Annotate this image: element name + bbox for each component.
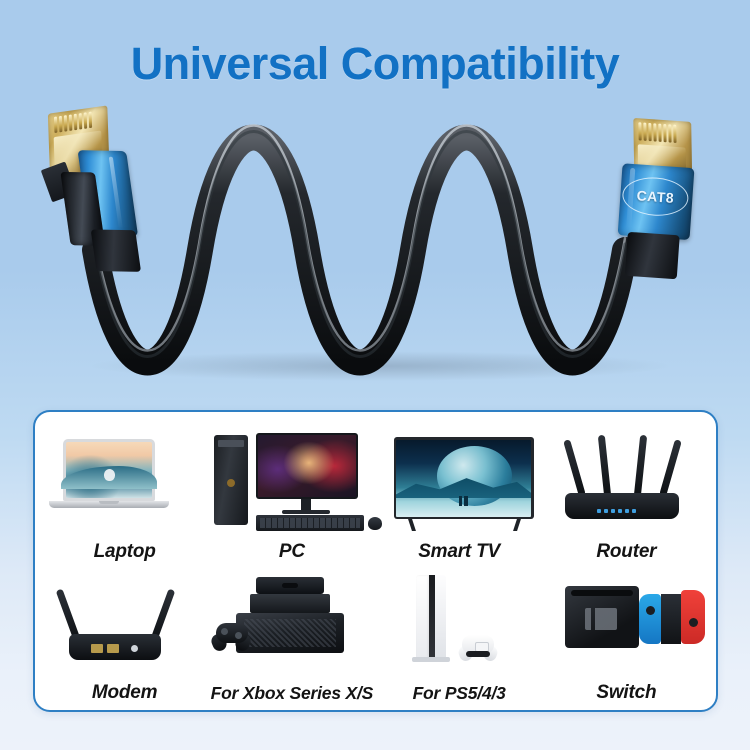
device-cell-playstation: For PS5/4/3 [376, 563, 543, 704]
product-marketing-image: Universal Compatibility [0, 0, 750, 750]
smart-tv-icon [376, 431, 543, 535]
device-cell-xbox: For Xbox Series X/S [208, 563, 375, 704]
router-icon [543, 431, 710, 535]
device-label: Laptop [94, 541, 156, 563]
nintendo-switch-icon [543, 572, 710, 676]
device-label: Router [596, 541, 656, 563]
page-title: Universal Compatibility [0, 38, 750, 90]
device-label: Smart TV [418, 541, 500, 563]
xbox-console-icon [208, 573, 375, 677]
device-label: PC [279, 541, 305, 563]
device-label: Modem [92, 682, 158, 704]
device-cell-laptop: Laptop [41, 422, 208, 563]
device-label: For PS5/4/3 [413, 683, 506, 704]
laptop-icon [41, 431, 208, 535]
device-label: Switch [596, 682, 656, 704]
device-cell-router: Router [543, 422, 710, 563]
modem-icon [41, 572, 208, 676]
device-cell-modem: Modem [41, 563, 208, 704]
desktop-pc-icon [208, 431, 375, 535]
cable-boot-right [625, 232, 680, 280]
cable-boot-left [91, 229, 141, 271]
device-label: For Xbox Series X/S [211, 683, 374, 704]
device-cell-switch: Switch [543, 563, 710, 704]
rj45-plug-right: CAT8 [602, 117, 718, 289]
compatible-devices-panel: Laptop PC [33, 410, 718, 712]
device-cell-pc: PC [208, 422, 375, 563]
device-cell-smart-tv: Smart TV [376, 422, 543, 563]
playstation-console-icon [376, 573, 543, 677]
